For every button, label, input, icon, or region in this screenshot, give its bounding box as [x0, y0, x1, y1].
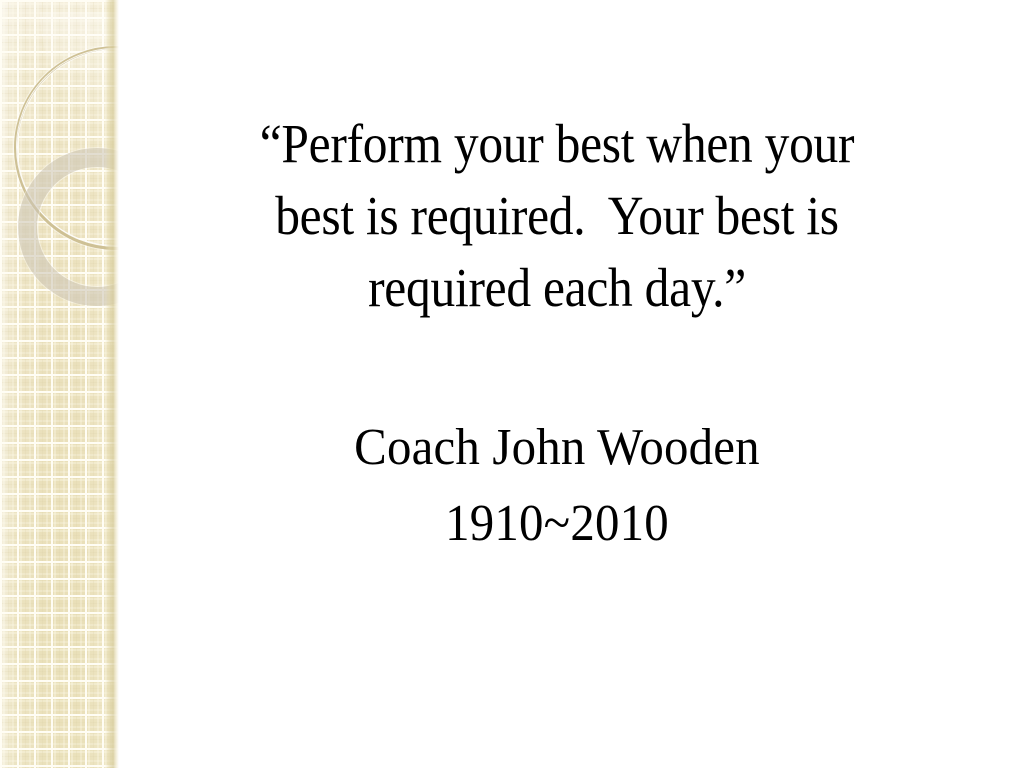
slide-content: “Perform your best when your best is req… — [119, 0, 1024, 768]
decorative-sidebar — [0, 0, 119, 768]
quote-line-3: required each day.” — [197, 252, 917, 324]
attribution-years: 1910~2010 — [181, 486, 933, 562]
presentation-slide: “Perform your best when your best is req… — [0, 0, 1024, 768]
sidebar-fade-edge — [105, 0, 119, 768]
quote-line-2: best is required. Your best is — [197, 180, 917, 252]
quote-line-1: “Perform your best when your — [197, 108, 917, 180]
quote-text-block: “Perform your best when your best is req… — [157, 108, 957, 324]
attribution-name: Coach John Wooden — [181, 410, 933, 486]
attribution-block: Coach John Wooden 1910~2010 — [157, 410, 957, 562]
